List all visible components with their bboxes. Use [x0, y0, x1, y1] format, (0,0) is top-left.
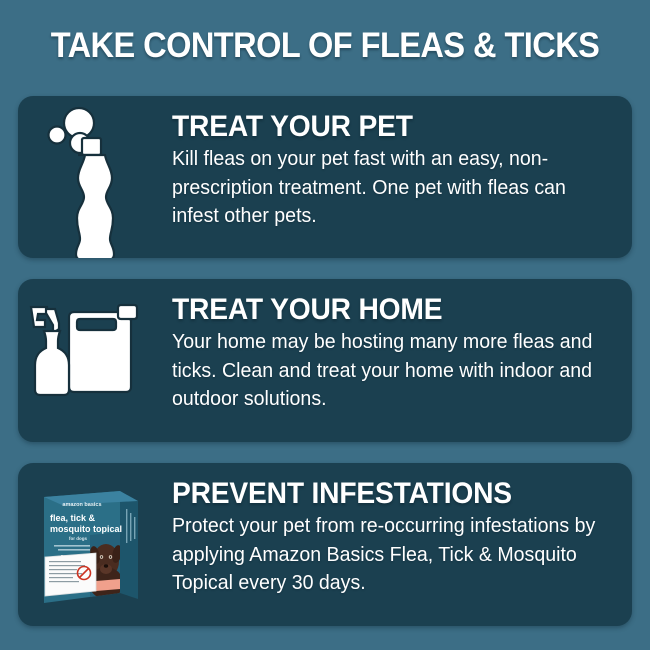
shampoo-bottle-icon — [18, 96, 172, 258]
card-heading: TREAT YOUR HOME — [172, 293, 589, 327]
card-text-block: TREAT YOUR PET Kill fleas on your pet fa… — [172, 96, 632, 231]
card-body: Your home may be hosting many more fleas… — [172, 328, 596, 414]
package-brand: amazon basics — [62, 502, 101, 508]
product-package-icon: amazon basics flea, tick & mosquito topi… — [18, 463, 172, 626]
page-title: TAKE CONTROL OF FLEAS & TICKS — [23, 24, 628, 68]
card-body: Protect your pet from re-occurring infes… — [172, 512, 596, 598]
svg-text:mosquito topical: mosquito topical — [50, 524, 122, 534]
card-treat-your-pet: TREAT YOUR PET Kill fleas on your pet fa… — [18, 96, 632, 258]
card-text-block: PREVENT INFESTATIONS Protect your pet fr… — [172, 463, 632, 598]
card-treat-your-home: TREAT YOUR HOME Your home may be hosting… — [18, 279, 632, 442]
svg-text:flea, tick &: flea, tick & — [50, 513, 96, 523]
card-body: Kill fleas on your pet fast with an easy… — [172, 145, 596, 231]
spray-bottle-and-jug-icon — [18, 279, 172, 442]
infographic-page: TAKE CONTROL OF FLEAS & TICKS TREAT YOUR… — [0, 0, 650, 650]
card-heading: PREVENT INFESTATIONS — [172, 477, 589, 511]
card-heading: TREAT YOUR PET — [172, 110, 589, 144]
card-prevent-infestations: amazon basics flea, tick & mosquito topi… — [18, 463, 632, 626]
svg-text:for dogs: for dogs — [69, 536, 87, 541]
card-text-block: TREAT YOUR HOME Your home may be hosting… — [172, 279, 632, 414]
